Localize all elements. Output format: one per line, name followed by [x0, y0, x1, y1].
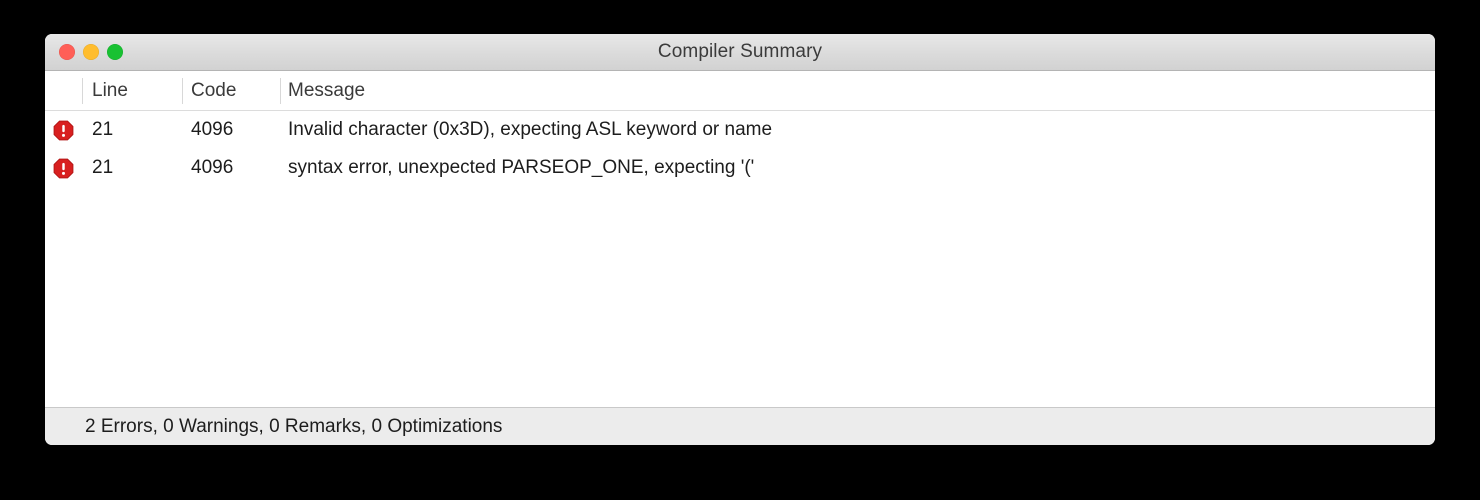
row-code-value: 4096	[191, 111, 233, 149]
row-line-value: 21	[92, 111, 113, 149]
status-bar: 2 Errors, 0 Warnings, 0 Remarks, 0 Optim…	[45, 407, 1435, 445]
table-row[interactable]: 21 4096 Invalid character (0x3D), expect…	[45, 111, 1435, 149]
column-divider[interactable]	[280, 78, 281, 104]
window-title: Compiler Summary	[45, 34, 1435, 70]
window-titlebar[interactable]: Compiler Summary	[45, 34, 1435, 71]
error-icon	[53, 120, 74, 141]
message-list[interactable]: 21 4096 Invalid character (0x3D), expect…	[45, 111, 1435, 406]
row-code-value: 4096	[191, 149, 233, 187]
compiler-summary-window: Compiler Summary Line Code Message 21 40…	[45, 34, 1435, 445]
row-message-value: Invalid character (0x3D), expecting ASL …	[288, 111, 772, 149]
row-message-value: syntax error, unexpected PARSEOP_ONE, ex…	[288, 149, 754, 187]
table-row[interactable]: 21 4096 syntax error, unexpected PARSEOP…	[45, 149, 1435, 187]
row-line-value: 21	[92, 149, 113, 187]
error-icon	[53, 158, 74, 179]
column-divider[interactable]	[182, 78, 183, 104]
table-header: Line Code Message	[45, 71, 1435, 111]
status-summary: 2 Errors, 0 Warnings, 0 Remarks, 0 Optim…	[85, 408, 502, 445]
column-header-line[interactable]: Line	[92, 71, 128, 110]
column-header-message[interactable]: Message	[288, 71, 365, 110]
column-divider[interactable]	[82, 78, 83, 104]
column-header-code[interactable]: Code	[191, 71, 236, 110]
